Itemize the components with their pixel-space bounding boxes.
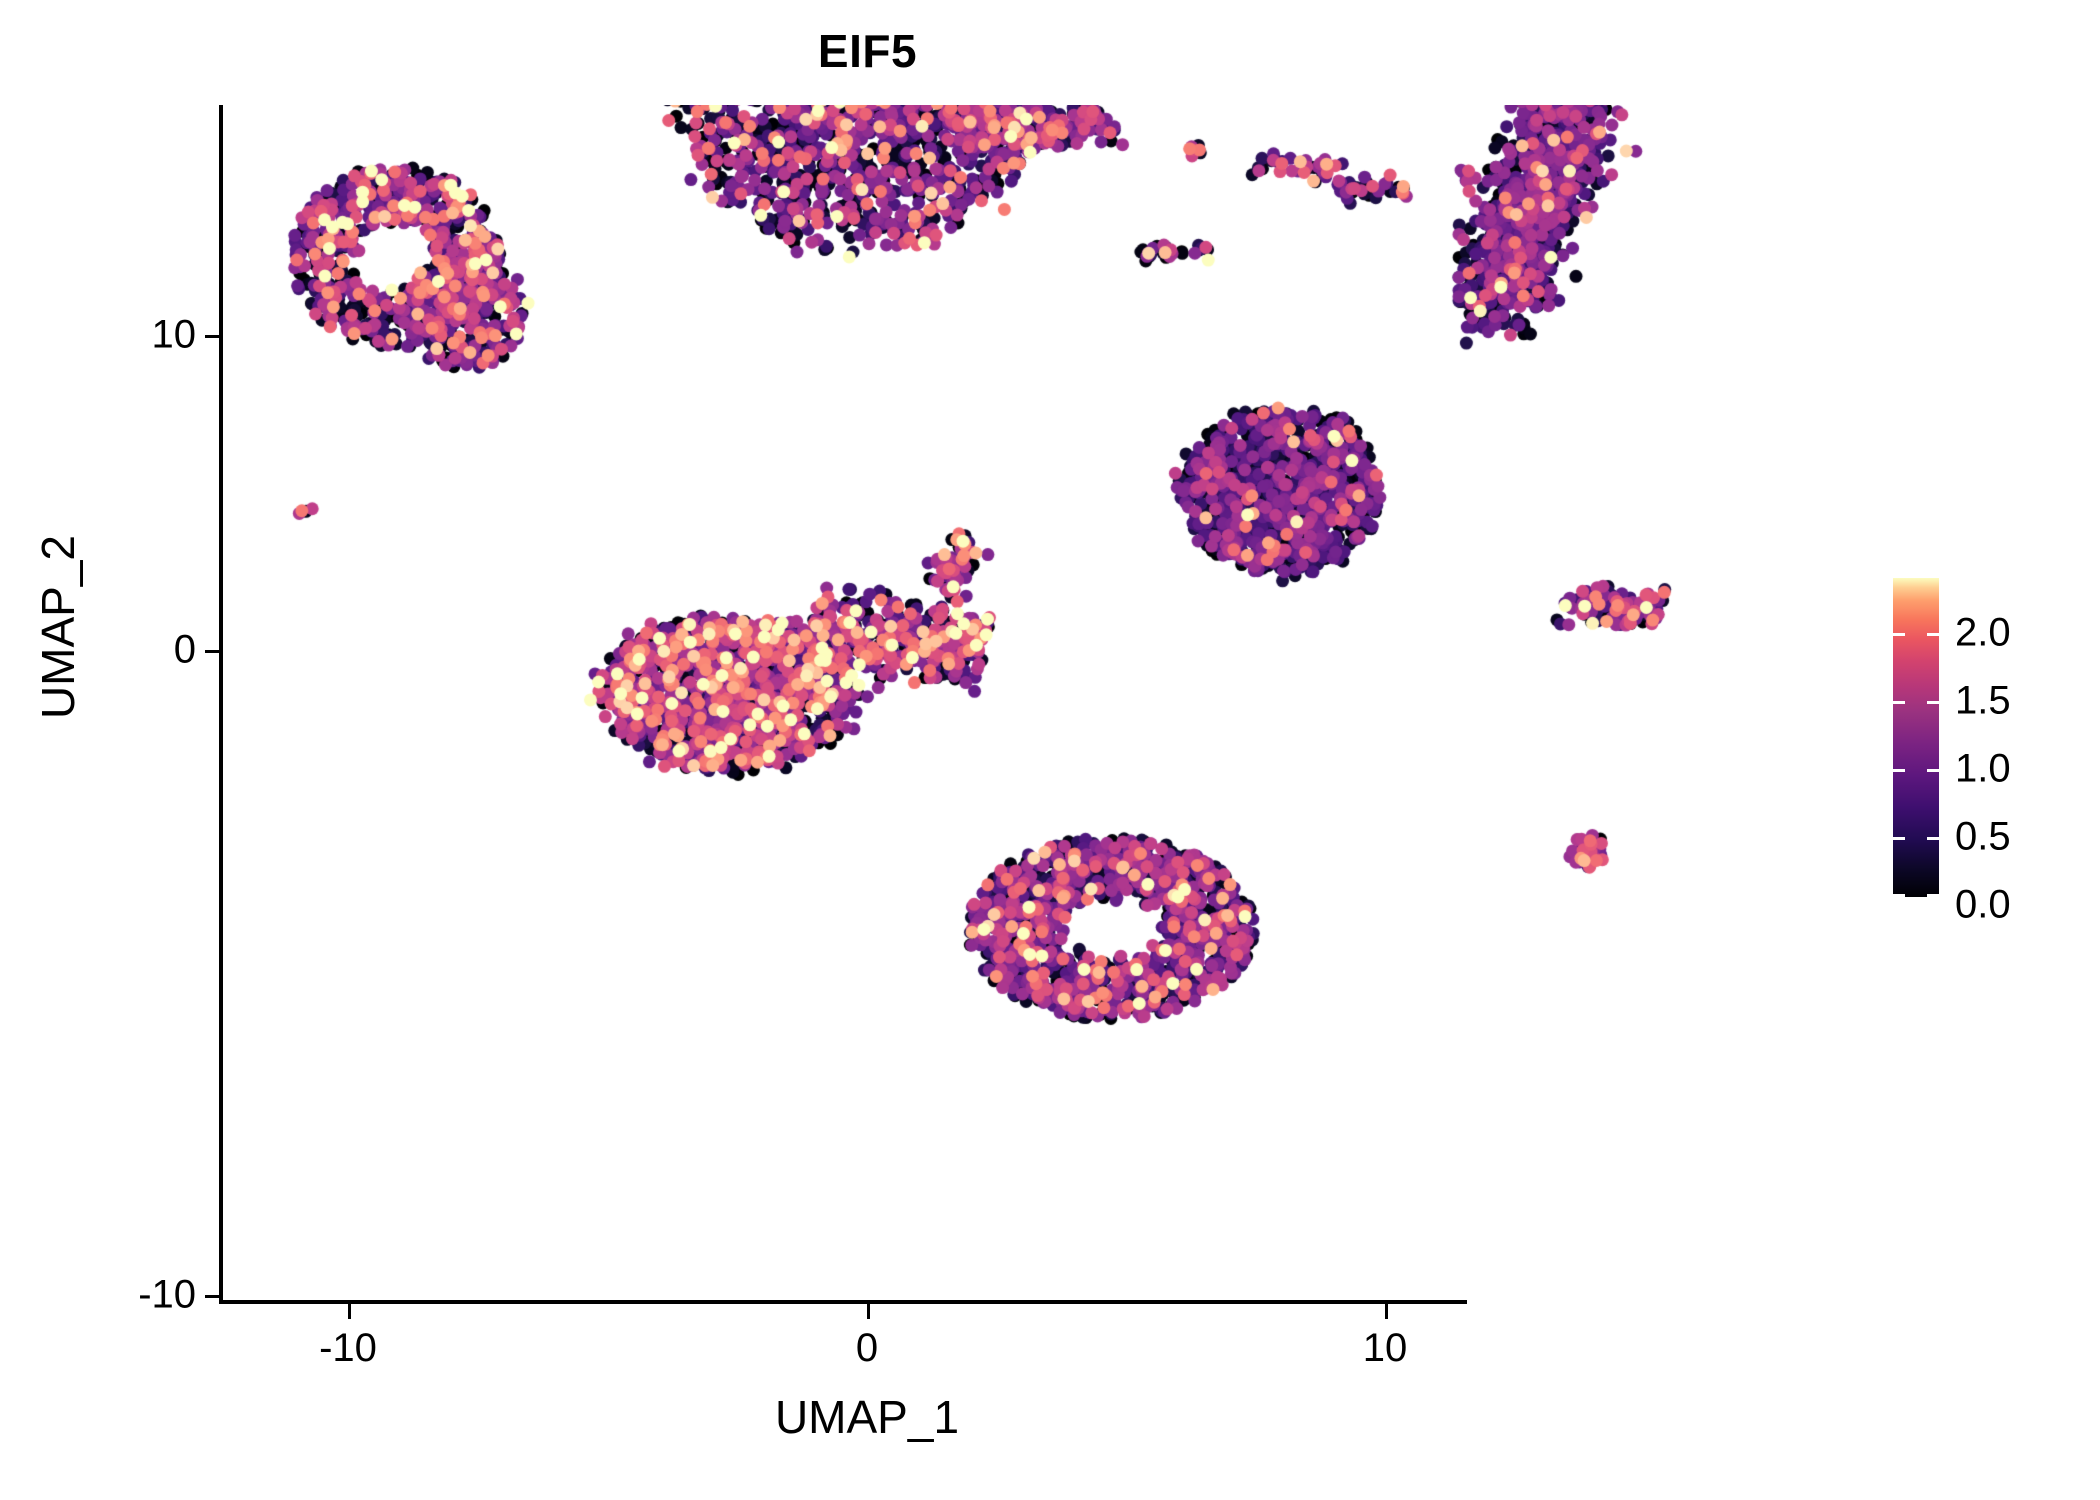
colorbar-gradient — [1893, 578, 1939, 897]
colorbar-tick-2-0-left — [1893, 633, 1905, 636]
colorbar-label-0-0: 0.0 — [1955, 883, 2011, 928]
y-tick-0 — [205, 650, 221, 653]
colorbar-legend: 2.0 1.5 1.0 0.5 0.0 — [1893, 578, 1939, 897]
chart-root: EIF5 10 0 -10 -10 0 10 UMAP_2 UMAP_1 — [0, 0, 2100, 1500]
colorbar-tick-0-0-right — [1927, 894, 1939, 897]
x-tick-0 — [867, 1303, 870, 1319]
y-tick-10 — [205, 335, 221, 338]
x-ticklabel-neg10: -10 — [248, 1326, 448, 1371]
colorbar-tick-0-5-right — [1927, 837, 1939, 840]
colorbar-tick-2-0-right — [1927, 633, 1939, 636]
y-ticklabel-10: 10 — [46, 313, 196, 358]
plot-panel — [222, 105, 1735, 1302]
x-ticklabel-0: 0 — [767, 1326, 967, 1371]
colorbar-tick-1-5-left — [1893, 701, 1905, 704]
x-axis-title: UMAP_1 — [567, 1390, 1167, 1444]
colorbar-label-0-5: 0.5 — [1955, 815, 2011, 860]
y-tick-neg10 — [205, 1295, 221, 1298]
x-axis-line — [219, 1300, 1467, 1304]
y-axis-line — [219, 105, 223, 1304]
y-ticklabel-neg10: -10 — [46, 1273, 196, 1318]
x-tick-neg10 — [348, 1303, 351, 1319]
colorbar-label-1-5: 1.5 — [1955, 679, 2011, 724]
colorbar-label-1-0: 1.0 — [1955, 747, 2011, 792]
colorbar-tick-1-5-right — [1927, 701, 1939, 704]
colorbar-tick-0-0-left — [1893, 894, 1905, 897]
x-ticklabel-10: 10 — [1285, 1326, 1485, 1371]
colorbar-tick-0-5-left — [1893, 837, 1905, 840]
colorbar-label-2-0: 2.0 — [1955, 611, 2011, 656]
y-axis-title: UMAP_2 — [31, 417, 85, 837]
scatter-points-layer — [222, 105, 1735, 1302]
x-tick-10 — [1385, 1303, 1388, 1319]
colorbar-tick-1-0-right — [1927, 769, 1939, 772]
page-title: EIF5 — [0, 24, 1735, 78]
colorbar-tick-1-0-left — [1893, 769, 1905, 772]
